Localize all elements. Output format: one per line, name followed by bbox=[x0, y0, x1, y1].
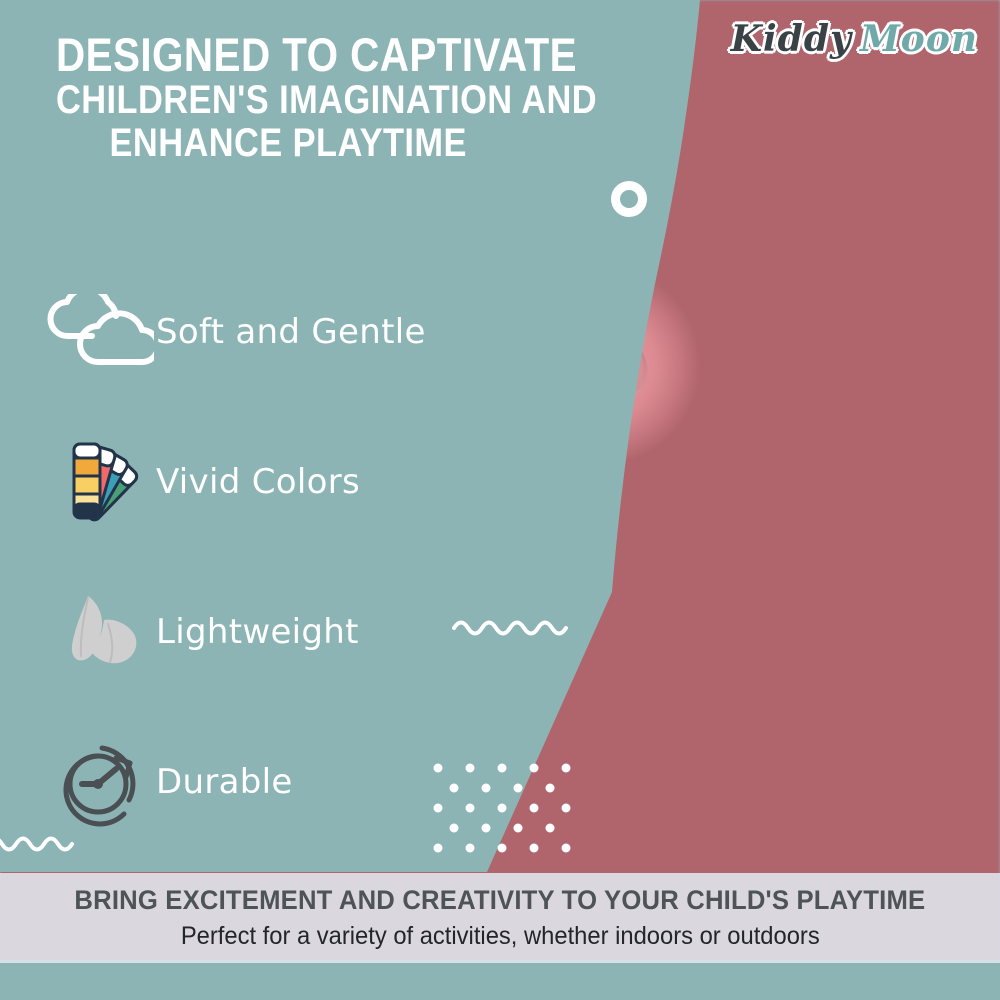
promo-graphic: Kiddy Moon KiddyMoon DESIGNED TO CAPTIVA… bbox=[0, 0, 1000, 1000]
feather-icon bbox=[44, 590, 156, 674]
feature-item-soft-and-gentle: Soft and Gentle bbox=[44, 292, 494, 372]
clock-arrow-icon bbox=[44, 736, 156, 828]
feature-label: Vivid Colors bbox=[156, 462, 360, 502]
brand-word-kiddy: Kiddy bbox=[731, 18, 852, 60]
ring-circle-icon bbox=[611, 181, 647, 217]
banner-title: BRING EXCITEMENT AND CREATIVITY TO YOUR … bbox=[75, 885, 926, 916]
feature-item-durable: Durable bbox=[44, 742, 494, 822]
feature-label: Soft and Gentle bbox=[156, 312, 426, 352]
clouds-icon bbox=[44, 294, 156, 370]
teal-panel-footer bbox=[0, 960, 1000, 1000]
banner-subtitle: Perfect for a variety of activities, whe… bbox=[181, 922, 820, 951]
headline: DESIGNED TO CAPTIVATE CHILDREN'S IMAGINA… bbox=[56, 30, 520, 165]
headline-line-2: CHILDREN'S IMAGINATION AND bbox=[56, 79, 520, 122]
feature-label: Lightweight bbox=[156, 612, 359, 652]
feature-list: Soft and Gentle bbox=[44, 292, 494, 892]
brand-logo: KiddyMoon bbox=[731, 18, 978, 60]
bottom-banner: BRING EXCITEMENT AND CREATIVITY TO YOUR … bbox=[0, 873, 1000, 963]
feature-item-vivid-colors: Vivid Colors bbox=[44, 442, 494, 522]
feature-item-lightweight: Lightweight bbox=[44, 592, 494, 672]
brand-word-moon: Moon bbox=[860, 18, 978, 60]
headline-line-3: ENHANCE PLAYTIME bbox=[56, 122, 520, 165]
color-swatch-fan-icon bbox=[44, 436, 156, 528]
headline-line-1: DESIGNED TO CAPTIVATE bbox=[56, 30, 520, 79]
feature-label: Durable bbox=[156, 762, 293, 802]
